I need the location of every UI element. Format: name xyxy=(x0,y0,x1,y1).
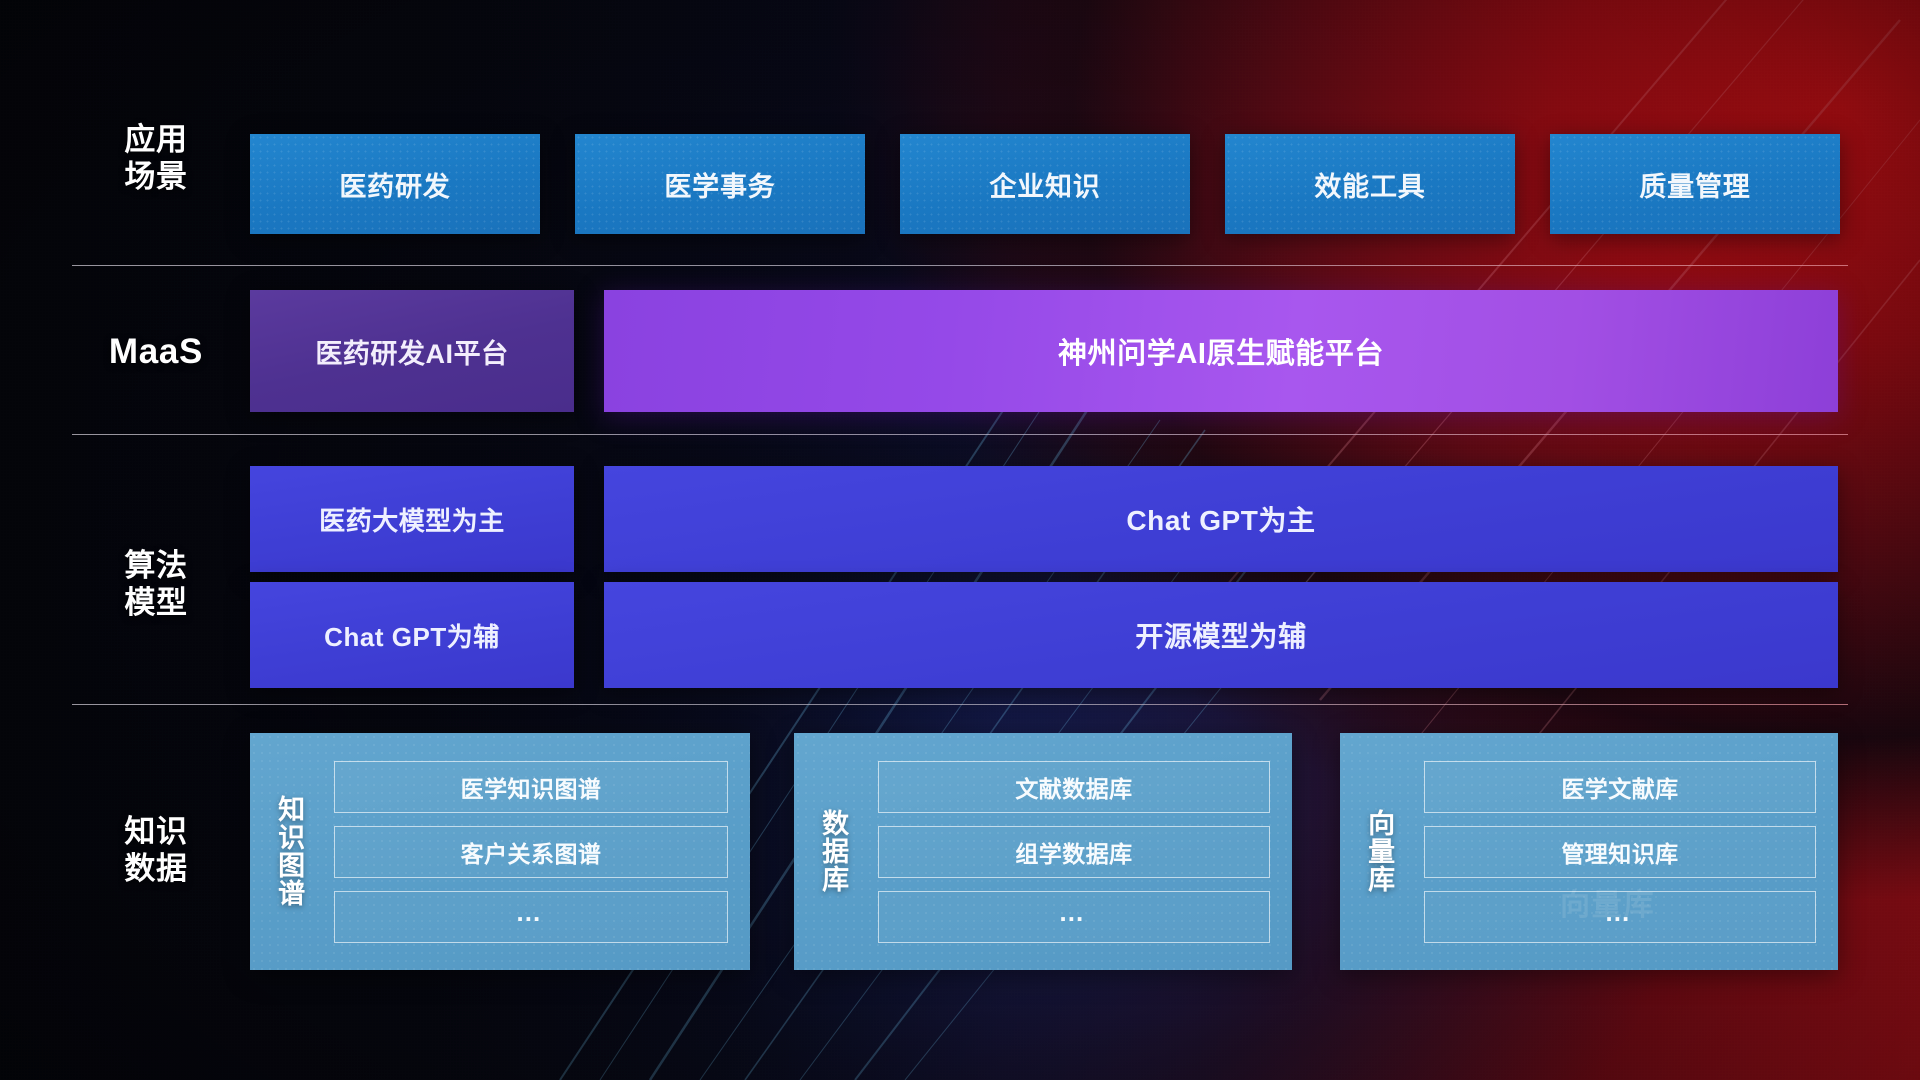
knowledge-group-knowledge-graph: 知识图谱 医学知识图谱 客户关系图谱 … xyxy=(250,733,750,970)
app-box-efficiency-tools[interactable]: 效能工具 xyxy=(1225,134,1515,234)
knowledge-group-vector-store: 向量库 医学文献库 管理知识库 … xyxy=(1340,733,1838,970)
app-box-label: 医药研发 xyxy=(339,165,450,204)
app-box-label: 质量管理 xyxy=(1639,165,1750,204)
app-box-label: 企业知识 xyxy=(989,165,1100,204)
algorithm-box-chatgpt-secondary[interactable]: Chat GPT为辅 xyxy=(250,582,574,688)
algorithm-box-chatgpt-primary[interactable]: Chat GPT为主 xyxy=(604,466,1838,572)
knowledge-item-more[interactable]: … xyxy=(878,891,1270,943)
row-label-application: 应用 场景 xyxy=(94,122,218,195)
knowledge-item[interactable]: 医学文献库 xyxy=(1424,761,1816,813)
row-label-knowledge: 知识 数据 xyxy=(94,814,218,887)
knowledge-group-title: 向量库 xyxy=(1340,733,1418,970)
row-label-maas: MaaS xyxy=(94,331,218,372)
algorithm-box-pharma-llm-primary[interactable]: 医药大模型为主 xyxy=(250,466,574,572)
knowledge-item[interactable]: 客户关系图谱 xyxy=(334,826,728,878)
knowledge-item-more[interactable]: … xyxy=(334,891,728,943)
divider-maas-algorithm xyxy=(72,434,1848,435)
knowledge-group-database: 数据库 文献数据库 组学数据库 … xyxy=(794,733,1292,970)
knowledge-item-list: 医学文献库 管理知识库 … xyxy=(1418,733,1838,970)
divider-algorithm-knowledge xyxy=(72,704,1848,705)
maas-box-pharma-ai-platform[interactable]: 医药研发AI平台 xyxy=(250,290,574,412)
algorithm-box-label: 医药大模型为主 xyxy=(319,501,505,538)
algorithm-box-label: 开源模型为辅 xyxy=(1135,615,1306,655)
knowledge-item-list: 医学知识图谱 客户关系图谱 … xyxy=(328,733,750,970)
algorithm-box-label: Chat GPT为辅 xyxy=(324,617,500,654)
app-box-medicine-rd[interactable]: 医药研发 xyxy=(250,134,540,234)
app-box-quality-management[interactable]: 质量管理 xyxy=(1550,134,1840,234)
app-box-enterprise-knowledge[interactable]: 企业知识 xyxy=(900,134,1190,234)
maas-box-label: 神州问学AI原生赋能平台 xyxy=(1058,330,1384,372)
knowledge-item[interactable]: 组学数据库 xyxy=(878,826,1270,878)
knowledge-item-more[interactable]: … xyxy=(1424,891,1816,943)
divider-application-maas xyxy=(72,265,1848,266)
maas-box-label: 医药研发AI平台 xyxy=(315,332,508,371)
slide-canvas: 应用 场景 医药研发 医学事务 企业知识 效能工具 质量管理 MaaS 医药研发… xyxy=(0,0,1920,1080)
row-label-algorithm: 算法 模型 xyxy=(94,548,218,621)
knowledge-group-title: 知识图谱 xyxy=(250,733,328,970)
maas-box-shenzhou-wenxue-platform[interactable]: 神州问学AI原生赋能平台 xyxy=(604,290,1838,412)
knowledge-item[interactable]: 文献数据库 xyxy=(878,761,1270,813)
app-box-label: 效能工具 xyxy=(1314,165,1425,204)
knowledge-item[interactable]: 管理知识库 xyxy=(1424,826,1816,878)
knowledge-item-list: 文献数据库 组学数据库 … xyxy=(872,733,1292,970)
knowledge-group-title: 数据库 xyxy=(794,733,872,970)
app-box-label: 医学事务 xyxy=(664,165,775,204)
app-box-medical-affairs[interactable]: 医学事务 xyxy=(575,134,865,234)
algorithm-box-label: Chat GPT为主 xyxy=(1126,499,1315,539)
algorithm-box-opensource-secondary[interactable]: 开源模型为辅 xyxy=(604,582,1838,688)
knowledge-item[interactable]: 医学知识图谱 xyxy=(334,761,728,813)
